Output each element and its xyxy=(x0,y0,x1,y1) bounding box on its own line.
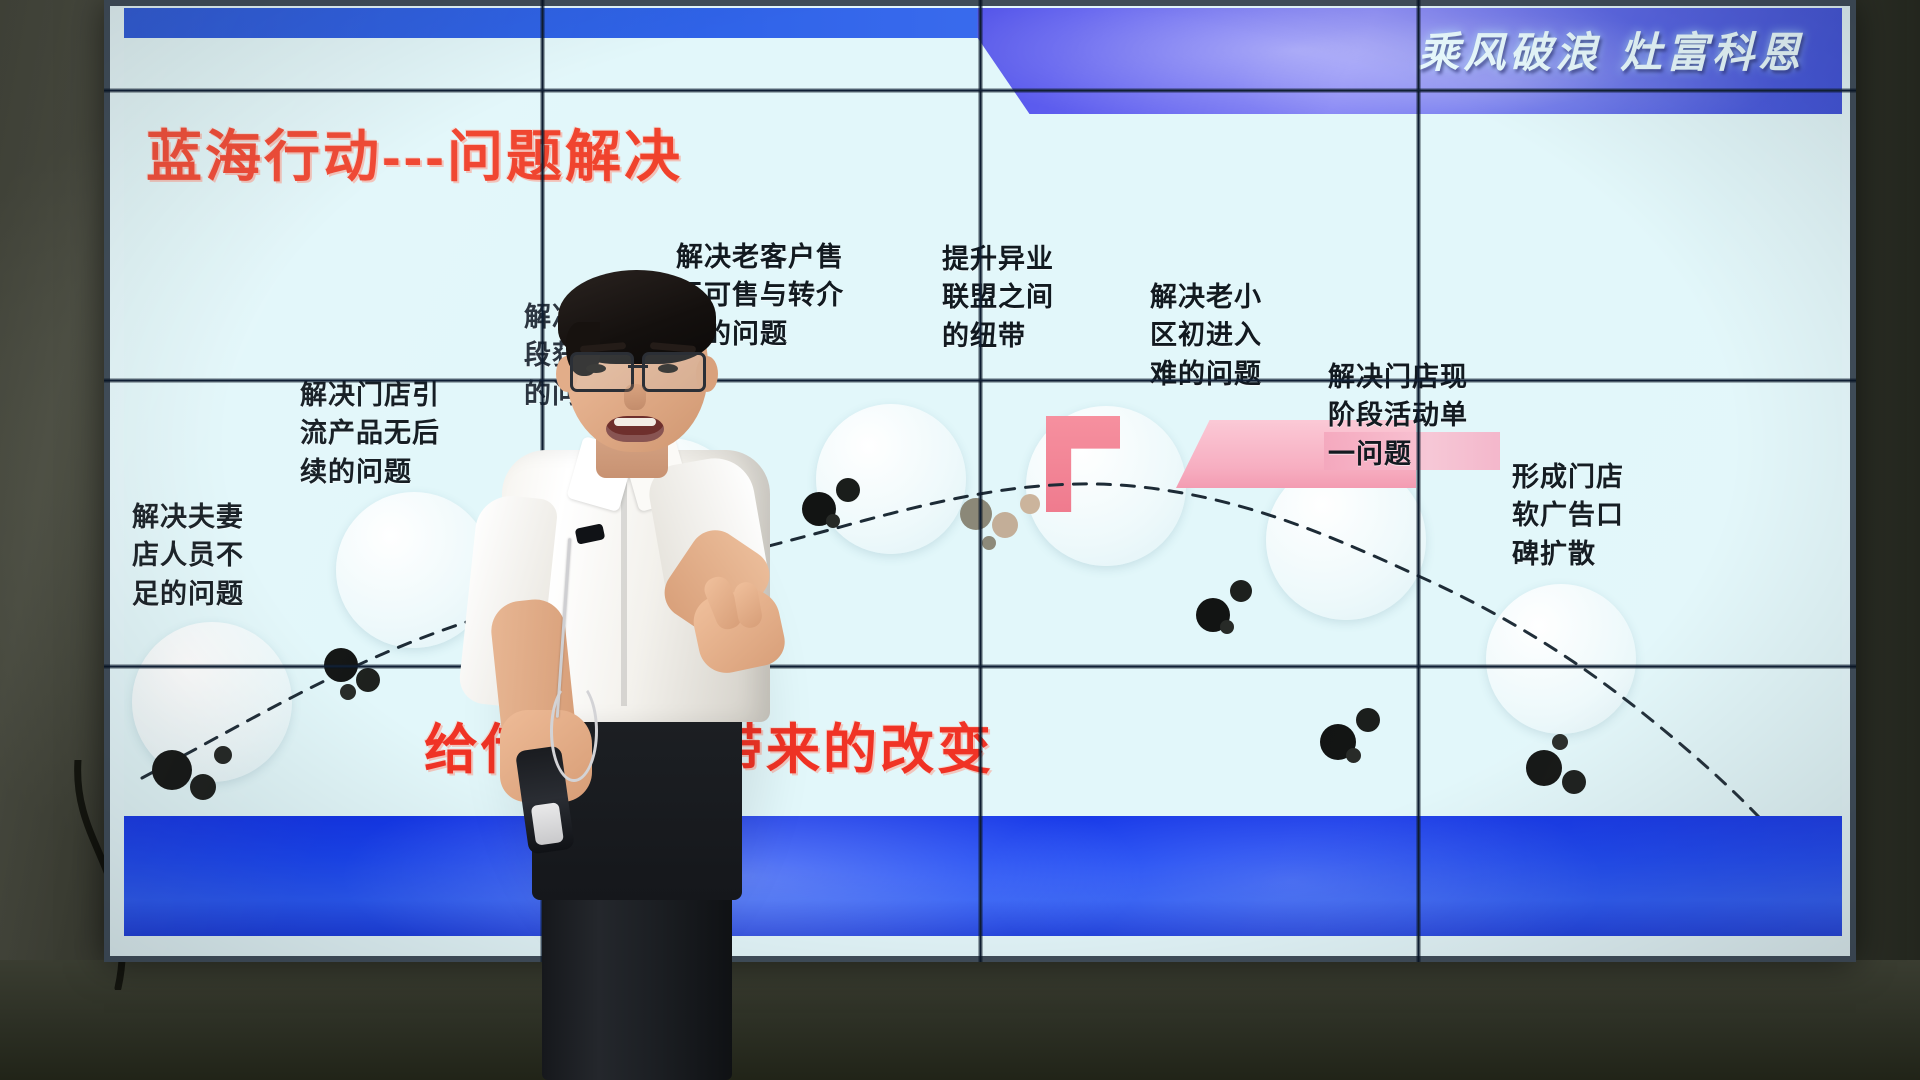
decor-dot xyxy=(356,668,380,692)
floor xyxy=(0,960,1920,1080)
slide-title: 蓝海行动---问题解决 xyxy=(146,112,683,193)
video-wall[interactable]: 乘风破浪 灶富科恩 xyxy=(104,0,1856,962)
glasses-bridge xyxy=(628,365,648,368)
wall-seam-vertical xyxy=(978,0,983,962)
decor-dot xyxy=(1562,770,1586,794)
presenter-mouth xyxy=(606,416,664,442)
microphone-wire-loop xyxy=(550,680,598,782)
callout-text-8: 形成门店 软广告口 碑扩散 xyxy=(1512,458,1624,573)
glasses-lens-right xyxy=(642,352,706,392)
callout-text-5: 提升异业 联盟之间 的纽带 xyxy=(942,240,1054,355)
wall-seam-horizontal xyxy=(104,88,1856,93)
decor-dot xyxy=(1526,750,1562,786)
callout-text-1: 解决夫妻 店人员不 足的问题 xyxy=(132,498,244,613)
callout-text-6: 解决老小 区初进入 难的问题 xyxy=(1150,278,1262,393)
decor-dot xyxy=(1552,734,1568,750)
decor-dot xyxy=(1356,708,1380,732)
decor-blob-7 xyxy=(1486,584,1636,734)
decor-dot xyxy=(982,536,996,550)
decor-dot xyxy=(1346,748,1361,763)
callout-text-7: 解决门店现 阶段活动单 一问题 xyxy=(1328,358,1468,473)
presentation-slide: 乘风破浪 灶富科恩 xyxy=(124,8,1842,936)
banner-bottom-band xyxy=(124,816,1842,936)
decor-dot xyxy=(1020,494,1040,514)
presenter-shirt-placket xyxy=(621,476,627,706)
wall-seam-horizontal xyxy=(104,664,1856,669)
decor-dot xyxy=(992,512,1018,538)
wall-seam-vertical xyxy=(1416,0,1421,962)
decor-dot xyxy=(960,498,992,530)
presenter xyxy=(424,300,824,1080)
decor-dot xyxy=(340,684,356,700)
glasses-icon xyxy=(570,352,706,386)
decor-dot xyxy=(152,750,192,790)
video-wall-screen: 乘风破浪 灶富科恩 xyxy=(104,0,1856,962)
decor-dot xyxy=(1220,620,1234,634)
brand-logo-text: 乘风破浪 灶富科恩 xyxy=(1417,32,1804,74)
decor-dot xyxy=(214,746,232,764)
glasses-lens-left xyxy=(570,352,634,392)
presenter-nose xyxy=(624,384,646,410)
wall-seam-horizontal xyxy=(104,378,1856,383)
decor-dot xyxy=(190,774,216,800)
decor-dot xyxy=(1230,580,1252,602)
